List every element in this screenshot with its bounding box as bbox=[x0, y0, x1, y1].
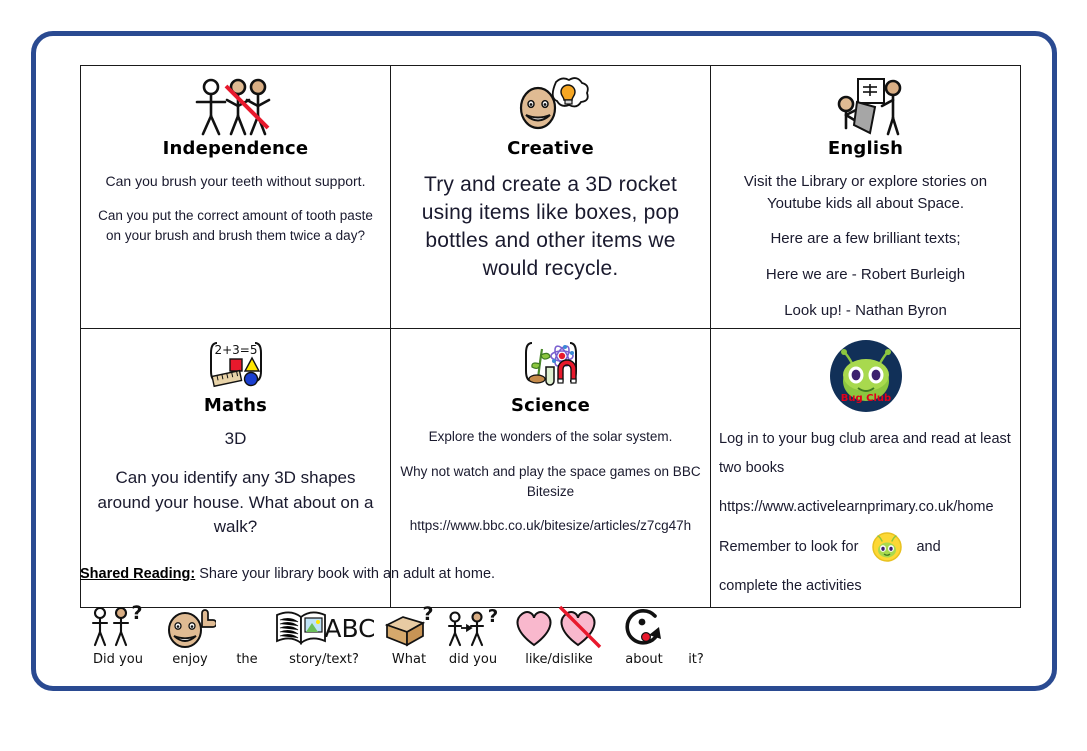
svg-text:2+3=5: 2+3=5 bbox=[214, 343, 257, 357]
subject-title: Science bbox=[399, 396, 702, 416]
cell-line: Can you put the correct amount of tooth … bbox=[89, 206, 382, 247]
cell-line: Explore the wonders of the solar system. bbox=[399, 427, 702, 447]
table-row: Independence Can you brush your teeth wi… bbox=[81, 66, 1021, 329]
maths-shapes-ruler-icon: 2+3=5 bbox=[89, 339, 382, 395]
creative-thinking-face-icon bbox=[399, 76, 702, 138]
cell-text: 3D Can you identify any 3D shapes around… bbox=[89, 427, 382, 540]
cell-line: Here are a few brilliant texts; bbox=[719, 228, 1012, 250]
two-people-arrow-question-icon: ? bbox=[444, 601, 502, 649]
heart-like-dislike-icon bbox=[510, 601, 608, 649]
symbol-caption: enjoy bbox=[172, 652, 208, 667]
cell-text: Visit the Library or explore stories on … bbox=[719, 171, 1012, 322]
open-book-abc-icon: ABC bbox=[274, 601, 374, 649]
cell-text: Try and create a 3D rocket using items l… bbox=[399, 171, 702, 284]
bug-face-emoji-icon bbox=[872, 532, 902, 562]
symbol-caption: about bbox=[625, 652, 663, 667]
symbol-did-you-2[interactable]: ? did you bbox=[440, 601, 506, 667]
cell-line: Can you identify any 3D shapes around yo… bbox=[89, 466, 382, 540]
symbol-caption: did you bbox=[449, 652, 497, 667]
cell-line: Can you brush your teeth without support… bbox=[89, 171, 382, 192]
svg-text:Bug Club: Bug Club bbox=[840, 393, 890, 404]
subject-title: Independence bbox=[89, 139, 382, 159]
remember-text-after: and bbox=[916, 538, 940, 554]
cell-header: 2+3=5 bbox=[89, 339, 382, 416]
cell-header: Creative bbox=[399, 76, 702, 159]
shared-reading-label: Shared Reading: bbox=[80, 566, 195, 582]
shared-reading-row: Shared Reading: Share your library book … bbox=[80, 566, 1040, 582]
cell-creative[interactable]: Creative Try and create a 3D rocket usin… bbox=[391, 66, 711, 329]
symbol-caption: story/text? bbox=[289, 652, 359, 667]
cell-link[interactable]: https://www.activelearnprimary.co.uk/hom… bbox=[719, 493, 1012, 522]
smiling-face-thumbs-up-icon bbox=[164, 601, 216, 649]
cell-header: English bbox=[719, 76, 1012, 159]
cell-line: Look up! - Nathan Byron bbox=[719, 300, 1012, 322]
english-reading-people-icon bbox=[719, 76, 1012, 138]
symbol-like-dislike[interactable]: like/dislike bbox=[506, 601, 612, 667]
activity-grid: Independence Can you brush your teeth wi… bbox=[80, 65, 1021, 608]
symbol-caption: What bbox=[392, 652, 426, 667]
cell-independence[interactable]: Independence Can you brush your teeth wi… bbox=[81, 66, 391, 329]
cell-text: Can you brush your teeth without support… bbox=[89, 171, 382, 247]
svg-text:?: ? bbox=[422, 603, 433, 625]
cell-line: Log in to your bug club area and read at… bbox=[719, 425, 1012, 483]
symbol-story-text[interactable]: ABC story/text? bbox=[270, 601, 378, 667]
svg-text:?: ? bbox=[488, 606, 498, 627]
subject-title: Maths bbox=[89, 396, 382, 416]
cell-line: Here we are - Robert Burleigh bbox=[719, 264, 1012, 286]
subject-title: English bbox=[719, 139, 1012, 159]
svg-text:ABC: ABC bbox=[324, 614, 374, 643]
box-question-icon: ? bbox=[382, 601, 436, 649]
science-plant-atom-magnet-icon bbox=[399, 339, 702, 395]
worksheet-page: Independence Can you brush your teeth wi… bbox=[0, 0, 1087, 751]
cell-line-remember: Remember to look for bbox=[719, 532, 1012, 562]
cell-header: Bug Club bbox=[719, 339, 1012, 413]
symbol-about[interactable]: about bbox=[612, 601, 676, 667]
two-people-question-icon: ? bbox=[88, 601, 148, 649]
independence-people-icon bbox=[89, 76, 382, 138]
shared-reading-text: Share your library book with an adult at… bbox=[195, 566, 495, 582]
cell-link[interactable]: https://www.bbc.co.uk/bitesize/articles/… bbox=[399, 516, 702, 536]
symbol-caption: Did you bbox=[93, 652, 143, 667]
symbol-strip: ? Did you enjoy bbox=[80, 601, 1040, 667]
symbol-caption: the bbox=[236, 652, 257, 667]
cell-line: Visit the Library or explore stories on … bbox=[719, 171, 1012, 215]
blue-rounded-frame: Independence Can you brush your teeth wi… bbox=[31, 31, 1057, 691]
symbol-caption: like/dislike bbox=[525, 652, 593, 667]
bug-club-logo-icon: Bug Club bbox=[719, 339, 1012, 413]
cell-header: Science bbox=[399, 339, 702, 416]
remember-text-before: Remember to look for bbox=[719, 538, 858, 554]
about-circle-arrow-icon bbox=[619, 601, 669, 649]
symbol-the[interactable]: the bbox=[224, 601, 270, 667]
symbol-it[interactable]: it? bbox=[676, 601, 716, 667]
symbol-caption: it? bbox=[688, 652, 704, 667]
cell-line: Why not watch and play the space games o… bbox=[399, 462, 702, 503]
symbol-enjoy[interactable]: enjoy bbox=[156, 601, 224, 667]
symbol-what[interactable]: ? What bbox=[378, 601, 440, 667]
svg-text:?: ? bbox=[131, 603, 142, 624]
symbol-did-you[interactable]: ? Did you bbox=[80, 601, 156, 667]
cell-text: Explore the wonders of the solar system.… bbox=[399, 427, 702, 536]
cell-header: Independence bbox=[89, 76, 382, 159]
cell-line: Try and create a 3D rocket using items l… bbox=[399, 171, 702, 284]
cell-line: 3D bbox=[89, 427, 382, 452]
cell-english[interactable]: English Visit the Library or explore sto… bbox=[711, 66, 1021, 329]
subject-title: Creative bbox=[399, 139, 702, 159]
